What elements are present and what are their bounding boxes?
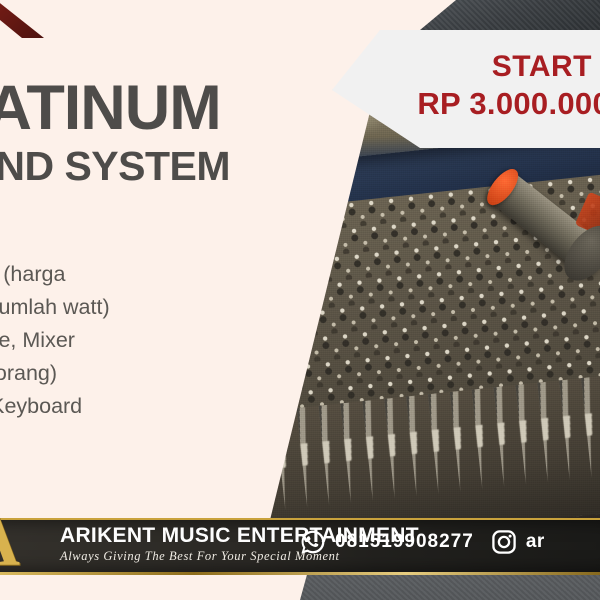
price-start-label: START <box>492 50 592 84</box>
spec-list: 000 watt (harga dengan jumlah watt) icro… <box>0 258 296 456</box>
instagram-icon[interactable] <box>491 529 517 555</box>
price-amount: RP 3.000.000 <box>417 86 600 122</box>
list-item: icrophone, Mixer <box>0 324 296 357</box>
promo-poster: START RP 3.000.000 PLATINUM SOUND SYSTEM… <box>0 0 600 600</box>
list-item: ound (2 orang) <box>0 357 296 390</box>
list-item: 000 watt (harga <box>0 258 296 291</box>
title-line-2: SOUND SYSTEM <box>0 146 328 187</box>
corner-accent-icon <box>0 0 44 38</box>
page-title: PLATINUM SOUND SYSTEM <box>0 78 328 187</box>
title-line-1: PLATINUM <box>0 78 328 138</box>
spec-list-items: 000 watt (harga dengan jumlah watt) icro… <box>0 258 296 456</box>
brand-logo-icon: A <box>0 502 34 580</box>
list-item: , Stand Keyboard <box>0 390 296 423</box>
footer-banner: A ARIKENT MUSIC ENTERTAINMENT Always Giv… <box>0 518 600 575</box>
instagram-handle[interactable]: ar <box>526 531 545 553</box>
whatsapp-number[interactable]: 081519908277 <box>335 531 474 553</box>
whatsapp-icon[interactable] <box>300 529 326 555</box>
list-item: dengan jumlah watt) <box>0 291 296 324</box>
top-texture-strip <box>420 0 600 30</box>
list-item: tem <box>0 423 296 456</box>
contact-row: 081519908277 ar <box>300 529 545 555</box>
